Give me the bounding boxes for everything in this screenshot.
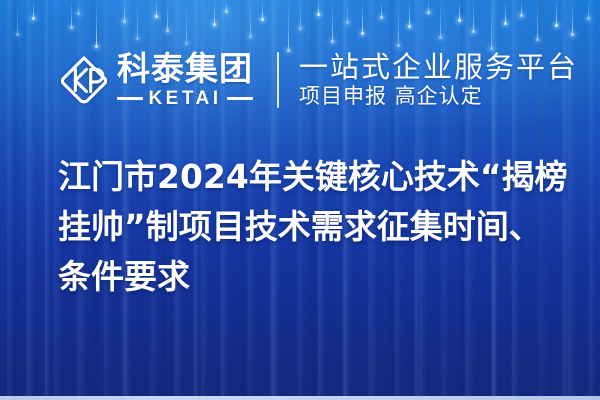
falling-light-streak (473, 0, 474, 31)
ketai-diamond-k-logo-icon (60, 55, 108, 105)
wordmark-rule-left (117, 97, 143, 100)
falling-light-streak (300, 0, 301, 28)
falling-light-streak (398, 0, 399, 45)
brand-name-latin-row: KETAI (117, 89, 253, 108)
falling-light-streak (459, 0, 460, 20)
falling-light-streak (156, 0, 157, 16)
brand-logo[interactable]: 科泰集团 KETAI (60, 52, 253, 108)
brand-header: 科泰集团 KETAI 一站式企业服务平台 项目申报 高企认定 (0, 44, 600, 116)
falling-light-streak (332, 0, 333, 41)
header-divider (277, 52, 279, 108)
article-title-line-2: 挂帅”制项目技术需求征集时间、 (58, 202, 558, 252)
falling-light-streak (71, 0, 72, 27)
article-title-line-3: 条件要求 (58, 252, 558, 302)
falling-light-streak (362, 0, 363, 33)
falling-light-streak (124, 0, 125, 21)
article-title: 江门市2024年关键核心技术“揭榜 挂帅”制项目技术需求征集时间、 条件要求 (58, 152, 558, 302)
falling-light-streak (588, 0, 589, 18)
falling-light-streak (491, 0, 492, 48)
falling-light-streak (521, 0, 522, 15)
falling-light-streak (250, 0, 251, 36)
falling-light-streak (214, 0, 215, 24)
falling-light-streak (288, 0, 289, 50)
falling-light-streak (186, 0, 187, 43)
falling-light-streak (409, 0, 410, 26)
falling-light-streak (381, 0, 382, 17)
brand-logo-wordmark: 科泰集团 KETAI (117, 52, 253, 108)
brand-name-latin: KETAI (148, 89, 221, 108)
falling-light-streak (537, 0, 538, 39)
falling-light-streak (505, 0, 506, 23)
falling-light-streak (167, 0, 168, 30)
falling-light-streak (78, 0, 79, 13)
brand-tagline: 一站式企业服务平台 项目申报 高企认定 (299, 52, 578, 108)
falling-light-streak (347, 0, 348, 22)
falling-light-streak (556, 0, 557, 25)
bottom-light-strip (0, 396, 600, 400)
tagline-primary: 一站式企业服务平台 (299, 52, 578, 83)
falling-light-streak (96, 0, 97, 46)
tagline-secondary: 项目申报 高企认定 (299, 85, 578, 108)
banner-canvas: 科泰集团 KETAI 一站式企业服务平台 项目申报 高企认定 江门市2024年关… (0, 0, 600, 400)
falling-light-streak (318, 0, 319, 14)
falling-light-streak (137, 0, 138, 38)
falling-light-streak (226, 0, 227, 11)
falling-light-streak (33, 0, 34, 18)
falling-light-streak (440, 0, 441, 37)
falling-light-streak (262, 0, 263, 19)
wordmark-rule-right (227, 97, 253, 100)
falling-light-streak (572, 0, 573, 34)
falling-light-streak (17, 0, 18, 34)
article-title-line-1: 江门市2024年关键核心技术“揭榜 (58, 152, 558, 202)
falling-light-streak (428, 0, 429, 12)
brand-name-chinese: 科泰集团 (117, 52, 253, 85)
